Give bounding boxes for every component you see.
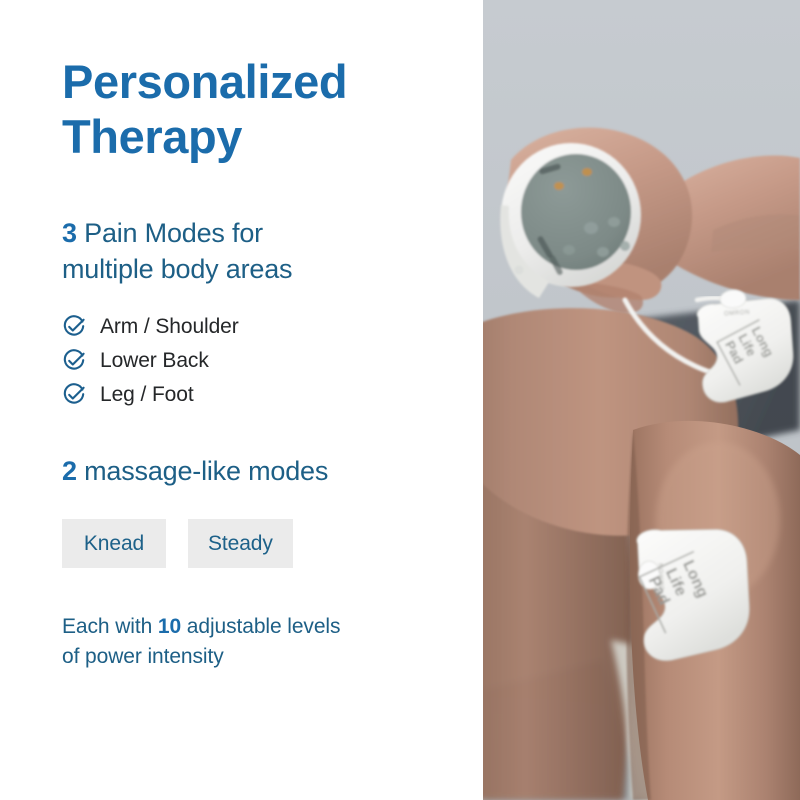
check-circle-icon [62,383,86,407]
footnote-text-before: Each with [62,615,158,638]
check-circle-icon [62,349,86,373]
list-item-label: Leg / Foot [100,384,194,405]
massage-modes-subheading-text: massage-like modes [77,456,328,486]
mode-chip-knead[interactable]: Knead [62,519,166,568]
list-item: Lower Back [62,348,443,374]
list-item: Leg / Foot [62,382,443,408]
pain-modes-count: 3 [62,218,77,248]
list-item-label: Arm / Shoulder [100,316,239,337]
electrode-pad-lower: OMRON Long Life Pad [636,525,752,662]
intensity-footnote: Each with 10 adjustable levels of power … [62,612,432,672]
massage-modes-subheading: 2 massage-like modes [62,454,443,489]
copy-panel: Personalized Therapy 3 Pain Modes for mu… [0,0,483,800]
list-item-label: Lower Back [100,350,209,371]
pain-modes-list: Arm / Shoulder Lower Back [62,314,443,408]
product-feature-graphic: Personalized Therapy 3 Pain Modes for mu… [0,0,800,800]
check-circle-icon [62,315,86,339]
pain-modes-subheading-text: Pain Modes for multiple body areas [62,218,292,284]
pain-modes-subheading: 3 Pain Modes for multiple body areas [62,215,443,288]
product-photo: OMRON Long Life Pad OMRON Long [483,0,800,800]
mode-chip-steady[interactable]: Steady [188,519,293,568]
page-title: Personalized Therapy [62,55,443,165]
massage-mode-chips: Knead Steady [62,519,443,568]
list-item: Arm / Shoulder [62,314,443,340]
product-photo-illustration: OMRON Long Life Pad OMRON Long [483,0,800,800]
intensity-level-count: 10 [158,615,181,638]
massage-modes-count: 2 [62,456,77,486]
